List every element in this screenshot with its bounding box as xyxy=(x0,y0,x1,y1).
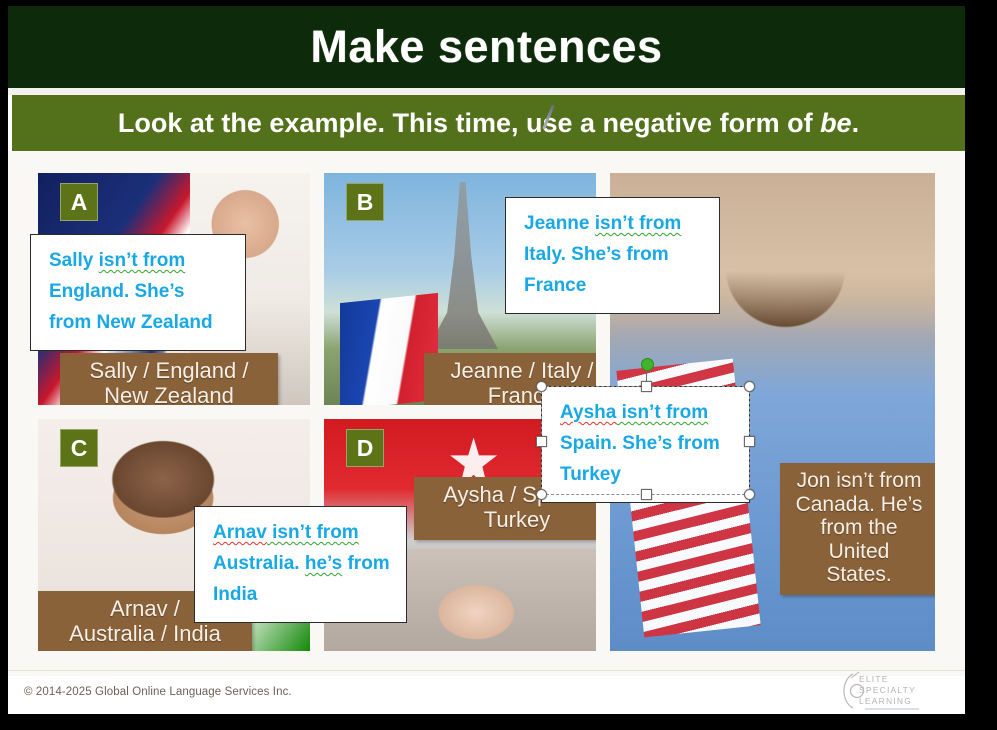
answer-textbox-a[interactable]: Sally isn’t from England. She’s from New… xyxy=(30,234,246,351)
answer-d-line-2: Australia. he’s from xyxy=(213,549,390,580)
answer-d-verb: isn’t from xyxy=(267,522,359,543)
panel-a-caption: Sally / England / New Zealand xyxy=(60,353,278,405)
answer-textbox-d[interactable]: Arnav isn’t from Australia. he’s from In… xyxy=(194,506,407,623)
elite-specialty-learning-logo: ELITE SPECIALTY LEARNING xyxy=(835,668,947,714)
instruction-text: Look at the example. This time, use a ne… xyxy=(118,108,859,139)
screenshot-stage: Make sentences Look at the example. This… xyxy=(0,0,997,730)
panel-c-letter-badge: C xyxy=(60,429,98,467)
answer-textbox-b[interactable]: Jeanne isn’t from Italy. She’s from Fran… xyxy=(505,197,720,314)
answer-b-name: Jeanne xyxy=(524,213,595,234)
answer-d-line-3: India xyxy=(213,580,390,611)
capture-bottom-black-bar xyxy=(0,714,997,730)
answer-a-line-2: England. She’s xyxy=(49,277,229,308)
panel-d-letter-badge: D xyxy=(346,429,384,467)
answer-b-verb: isn’t from xyxy=(595,213,682,234)
panel-b-letter-badge: B xyxy=(346,183,384,221)
instruction-suffix: . xyxy=(852,108,860,138)
title-divider xyxy=(8,88,965,95)
page-title: Make sentences xyxy=(310,21,662,73)
answer-a-name: Sally xyxy=(49,250,99,271)
answer-a-line-1: Sally isn’t from xyxy=(49,246,229,277)
answer-c-line-1: Aysha isn’t from xyxy=(560,398,733,429)
presentation-slide: Make sentences Look at the example. This… xyxy=(0,0,965,714)
svg-text:SPECIALTY: SPECIALTY xyxy=(859,685,916,695)
answer-b-line-2: Italy. She’s from xyxy=(524,240,703,271)
footer-divider xyxy=(8,670,965,671)
instruction-bar: Look at the example. This time, use a ne… xyxy=(12,95,965,151)
svg-text:LEARNING: LEARNING xyxy=(859,696,912,706)
answer-c-line-2: Spain. She’s from xyxy=(560,429,733,460)
answer-a-line-3: from New Zealand xyxy=(49,308,229,339)
panel-e-example-caption: Jon isn’t from Canada. He’s from the Uni… xyxy=(780,463,935,595)
answer-b-line-1: Jeanne isn’t from xyxy=(524,209,703,240)
panel-a-letter-badge: A xyxy=(60,183,98,221)
answer-c-verb: isn’t from xyxy=(616,402,708,423)
answer-d-line-1: Arnav isn’t from xyxy=(213,518,390,549)
answer-textbox-c-selected[interactable]: Aysha isn’t from Spain. She’s from Turke… xyxy=(541,386,750,503)
answer-d-name: Arnav xyxy=(213,522,267,543)
copyright-text: © 2014-2025 Global Online Language Servi… xyxy=(24,686,292,698)
answer-b-line-3: France xyxy=(524,271,703,302)
instruction-italic-be: be xyxy=(820,108,852,138)
instruction-prefix: Look at the example. This time, use a ne… xyxy=(118,108,820,138)
answer-a-verb: isn’t from xyxy=(99,250,186,271)
answer-d-line-2a: Australia. xyxy=(213,553,305,574)
slide-title-bar: Make sentences xyxy=(8,6,965,88)
answer-d-line-2c: from xyxy=(342,553,390,574)
capture-right-black-bar xyxy=(965,0,997,730)
svg-text:ELITE: ELITE xyxy=(859,674,889,684)
answer-c-line-3: Turkey xyxy=(560,460,733,491)
answer-d-contraction: he’s xyxy=(305,553,342,574)
slide-left-edge xyxy=(0,0,8,714)
exercise-grid: A Sally / England / New Zealand B Jeanne… xyxy=(8,151,965,714)
slide-footer: © 2014-2025 Global Online Language Servi… xyxy=(8,676,965,714)
answer-c-name: Aysha xyxy=(560,402,616,423)
